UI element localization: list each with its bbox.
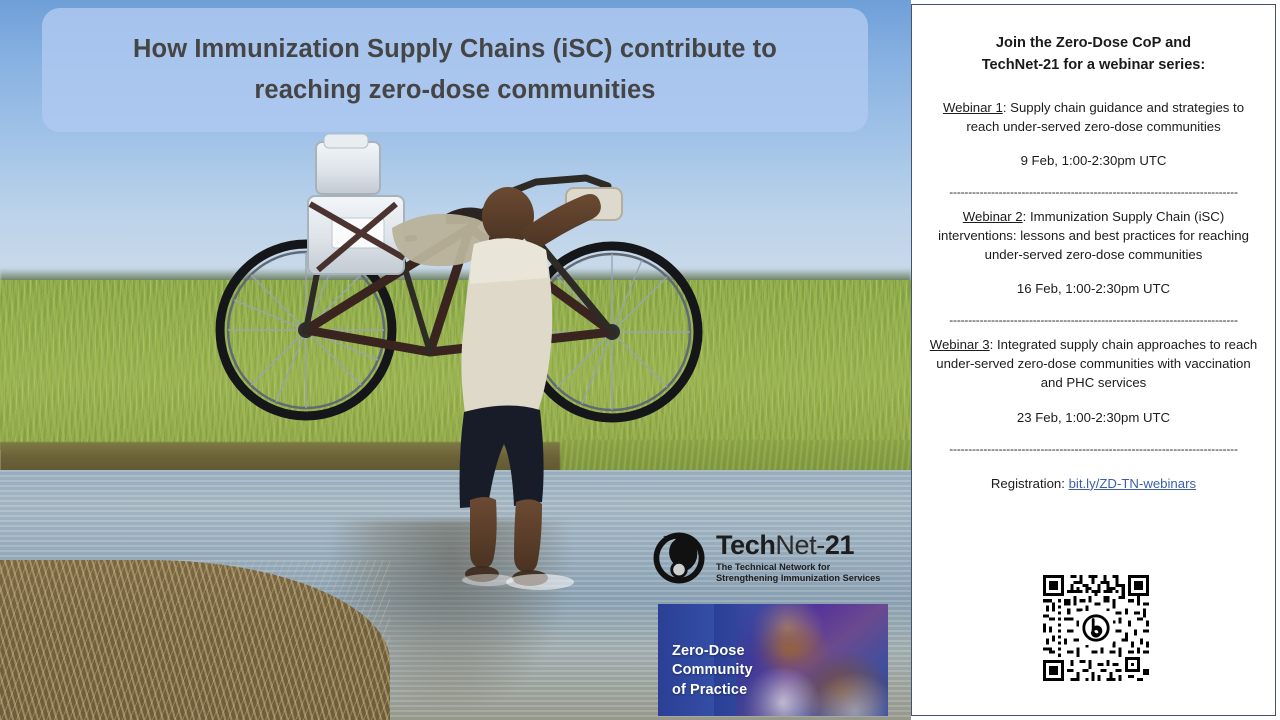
- webinar-block-1: Webinar 1: Supply chain guidance and str…: [924, 99, 1263, 168]
- webinar-2-description: Webinar 2: Immunization Supply Chain (iS…: [924, 208, 1263, 264]
- slide-canvas: How Immunization Supply Chains (iSC) con…: [0, 0, 1280, 720]
- webinar-1-text: : Supply chain guidance and strategies t…: [966, 100, 1244, 134]
- zd-line-1: Zero-Dose: [672, 642, 753, 661]
- zd-line-2: Community: [672, 661, 753, 680]
- panel-heading-line1: Join the Zero-Dose CoP and: [928, 33, 1259, 55]
- technet21-logo: TechNet-21 The Technical Network for Str…: [650, 527, 880, 589]
- webinar-block-3: Webinar 3: Integrated supply chain appro…: [924, 336, 1263, 424]
- separator-2: ----------------------------------------…: [924, 314, 1263, 326]
- zero-dose-badge-text: Zero-Dose Community of Practice: [672, 642, 753, 700]
- separator-1: ----------------------------------------…: [924, 186, 1263, 198]
- registration-line: Registration: bit.ly/ZD-TN-webinars: [924, 476, 1263, 491]
- technet-mark-icon: [650, 529, 708, 587]
- webinar-block-2: Webinar 2: Immunization Supply Chain (iS…: [924, 208, 1263, 296]
- webinar-1-label: Webinar 1: [943, 100, 1003, 115]
- webinar-2-time: 16 Feb, 1:00-2:30pm UTC: [924, 281, 1263, 296]
- slide-title: How Immunization Supply Chains (iSC) con…: [80, 29, 830, 112]
- webinar-1-time: 9 Feb, 1:00-2:30pm UTC: [924, 153, 1263, 168]
- technet-name: TechNet-21: [716, 532, 880, 559]
- separator-3: ----------------------------------------…: [924, 443, 1263, 455]
- panel-heading: Join the Zero-Dose CoP and TechNet-21 fo…: [928, 33, 1259, 77]
- webinar-3-description: Webinar 3: Integrated supply chain appro…: [924, 336, 1263, 392]
- zd-line-3: of Practice: [672, 681, 753, 700]
- technet-tagline-line1: The Technical Network for: [716, 562, 880, 573]
- bitly-logo-icon: [1079, 611, 1113, 645]
- webinar-2-label: Webinar 2: [963, 209, 1023, 224]
- registration-qr-code[interactable]: [1040, 572, 1152, 684]
- panel-heading-line2: TechNet-21 for a webinar series:: [928, 55, 1259, 77]
- hero-photo-panel: How Immunization Supply Chains (iSC) con…: [0, 0, 911, 720]
- technet-wordmark: TechNet-21 The Technical Network for Str…: [716, 532, 880, 584]
- webinar-3-time: 23 Feb, 1:00-2:30pm UTC: [924, 410, 1263, 425]
- zero-dose-cop-badge: Zero-Dose Community of Practice: [658, 604, 888, 716]
- registration-link[interactable]: bit.ly/ZD-TN-webinars: [1069, 476, 1197, 491]
- webinar-3-label: Webinar 3: [930, 337, 990, 352]
- registration-label: Registration:: [991, 476, 1069, 491]
- webinar-1-description: Webinar 1: Supply chain guidance and str…: [924, 99, 1263, 136]
- technet-tagline-line2: Strengthening Immunization Services: [716, 573, 880, 584]
- slide-title-box: How Immunization Supply Chains (iSC) con…: [42, 8, 868, 132]
